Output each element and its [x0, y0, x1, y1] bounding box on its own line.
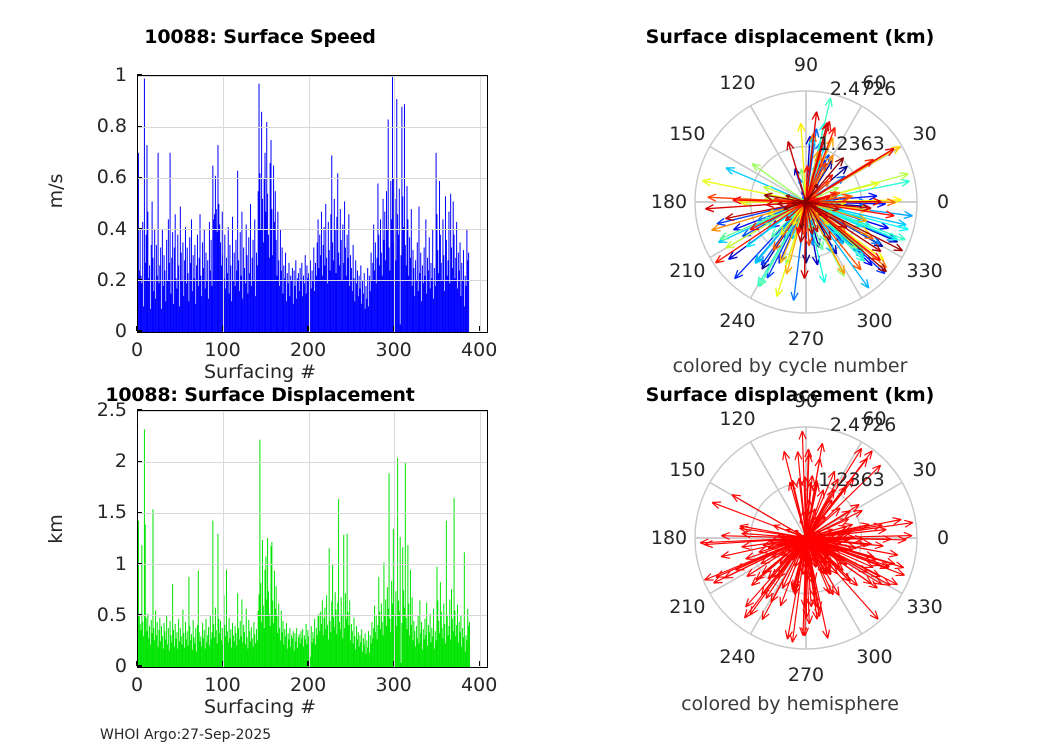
x-axis-tick-label: 0 — [131, 339, 143, 361]
surface-speed-ylabel: m/s — [45, 161, 67, 221]
surface-displacement-xlabel: Surfacing # — [0, 696, 520, 718]
panel-polar-hemisphere: Surface displacement (km) 03060901201501… — [530, 378, 1050, 738]
gridline-vertical — [309, 76, 310, 332]
panel-surface-speed: 10088: Surface Speed 00.20.40.60.8101002… — [0, 20, 520, 380]
gridline-vertical — [394, 76, 395, 332]
polar-angle-label: 120 — [719, 72, 755, 94]
y-axis-tick-mark — [137, 177, 142, 178]
gridline-horizontal — [138, 564, 487, 565]
polar-angle-label: 180 — [651, 191, 687, 213]
gridline-horizontal — [138, 127, 487, 128]
polar-angle-label: 300 — [856, 310, 892, 332]
y-axis-tick-label: 0.5 — [0, 604, 127, 626]
y-axis-tick-label: 0 — [0, 655, 127, 677]
x-axis-tick-label: 400 — [461, 339, 497, 361]
x-axis-tick-label: 400 — [461, 674, 497, 696]
x-axis-tick-mark — [479, 326, 480, 331]
polar-angle-label: 150 — [669, 459, 705, 481]
figure-footer: WHOI Argo:27-Sep-2025 — [100, 727, 271, 743]
gridline-vertical — [480, 411, 481, 667]
y-axis-tick-label: 2.5 — [0, 399, 127, 421]
x-axis-tick-mark — [307, 661, 308, 666]
x-axis-tick-label: 100 — [204, 339, 240, 361]
surface-speed-title: 10088: Surface Speed — [0, 26, 520, 48]
polar-angle-label: 330 — [907, 596, 943, 618]
gridline-vertical — [223, 411, 224, 667]
polar-angle-label: 270 — [788, 664, 824, 686]
gridline-horizontal — [138, 280, 487, 281]
panel-polar-cycle: Surface displacement (km) 03060901201501… — [530, 20, 1050, 380]
polar-angle-label: 120 — [719, 408, 755, 430]
x-axis-tick-mark — [136, 661, 137, 666]
gridline-vertical — [309, 411, 310, 667]
x-axis-tick-mark — [136, 326, 137, 331]
polar-angle-label: 0 — [937, 191, 949, 213]
x-axis-tick-label: 300 — [375, 674, 411, 696]
y-axis-tick-label: 1 — [0, 64, 127, 86]
y-axis-tick-label: 0.8 — [0, 115, 127, 137]
x-axis-tick-label: 100 — [204, 674, 240, 696]
x-axis-tick-label: 0 — [131, 674, 143, 696]
gridline-vertical — [223, 76, 224, 332]
x-axis-tick-mark — [307, 326, 308, 331]
gridline-horizontal — [138, 513, 487, 514]
polar-angle-label: 270 — [788, 328, 824, 350]
polar-cycle-caption: colored by cycle number — [530, 355, 1050, 377]
polar-angle-label: 180 — [651, 527, 687, 549]
polar-angle-label: 90 — [794, 390, 818, 412]
x-axis-tick-label: 200 — [290, 674, 326, 696]
y-axis-tick-label: 0 — [0, 320, 127, 342]
surface-displacement-bars — [138, 411, 487, 667]
y-axis-tick-mark — [137, 228, 142, 229]
polar-angle-label: 150 — [669, 123, 705, 145]
x-axis-tick-mark — [479, 661, 480, 666]
polar-hemisphere-svg — [666, 398, 946, 678]
polar-angle-label: 210 — [669, 260, 705, 282]
polar-angle-label: 30 — [913, 459, 937, 481]
y-axis-tick-mark — [137, 563, 142, 564]
y-axis-tick-label: 2 — [0, 450, 127, 472]
panel-surface-displacement: 10088: Surface Displacement 00.511.522.5… — [0, 378, 520, 738]
x-axis-tick-mark — [222, 661, 223, 666]
gridline-horizontal — [138, 615, 487, 616]
y-axis-tick-label: 0.2 — [0, 269, 127, 291]
surface-speed-plot-area — [137, 75, 488, 333]
polar-angle-label: 210 — [669, 596, 705, 618]
polar-hemisphere-caption: colored by hemisphere — [530, 693, 1050, 715]
polar-cycle-svg — [666, 62, 946, 342]
x-axis-tick-mark — [222, 326, 223, 331]
y-axis-tick-mark — [137, 409, 142, 410]
polar-angle-label: 0 — [937, 527, 949, 549]
polar-angle-label: 30 — [913, 123, 937, 145]
y-axis-tick-mark — [137, 279, 142, 280]
polar-angle-label: 300 — [856, 646, 892, 668]
gridline-horizontal — [138, 411, 487, 412]
polar-cycle-title: Surface displacement (km) — [530, 26, 1050, 48]
x-axis-tick-label: 200 — [290, 339, 326, 361]
surface-displacement-plot-area — [137, 410, 488, 668]
y-axis-tick-mark — [137, 512, 142, 513]
polar-angle-label: 240 — [719, 310, 755, 332]
polar-angle-label: 90 — [794, 54, 818, 76]
x-axis-tick-label: 300 — [375, 339, 411, 361]
gridline-horizontal — [138, 76, 487, 77]
gridline-horizontal — [138, 178, 487, 179]
y-axis-tick-mark — [137, 74, 142, 75]
surface-displacement-ylabel: km — [45, 499, 67, 559]
surface-speed-bars — [138, 76, 487, 332]
y-axis-tick-mark — [137, 614, 142, 615]
y-axis-tick-mark — [137, 461, 142, 462]
polar-radius-label: 2.4726 — [830, 414, 896, 436]
gridline-vertical — [480, 76, 481, 332]
polar-radius-label: 1.2363 — [818, 133, 884, 155]
polar-angle-label: 240 — [719, 646, 755, 668]
x-axis-tick-mark — [393, 326, 394, 331]
polar-angle-label: 330 — [907, 260, 943, 282]
x-axis-tick-mark — [393, 661, 394, 666]
polar-radius-label: 1.2363 — [818, 469, 884, 491]
gridline-vertical — [394, 411, 395, 667]
y-axis-tick-mark — [137, 126, 142, 127]
y-axis-tick-mark — [137, 330, 142, 331]
gridline-horizontal — [138, 462, 487, 463]
argo-float-summary-figure: 10088: Surface Speed 00.20.40.60.8101002… — [0, 0, 1050, 750]
y-axis-tick-mark — [137, 665, 142, 666]
gridline-horizontal — [138, 229, 487, 230]
polar-radius-label: 2.4726 — [830, 78, 896, 100]
